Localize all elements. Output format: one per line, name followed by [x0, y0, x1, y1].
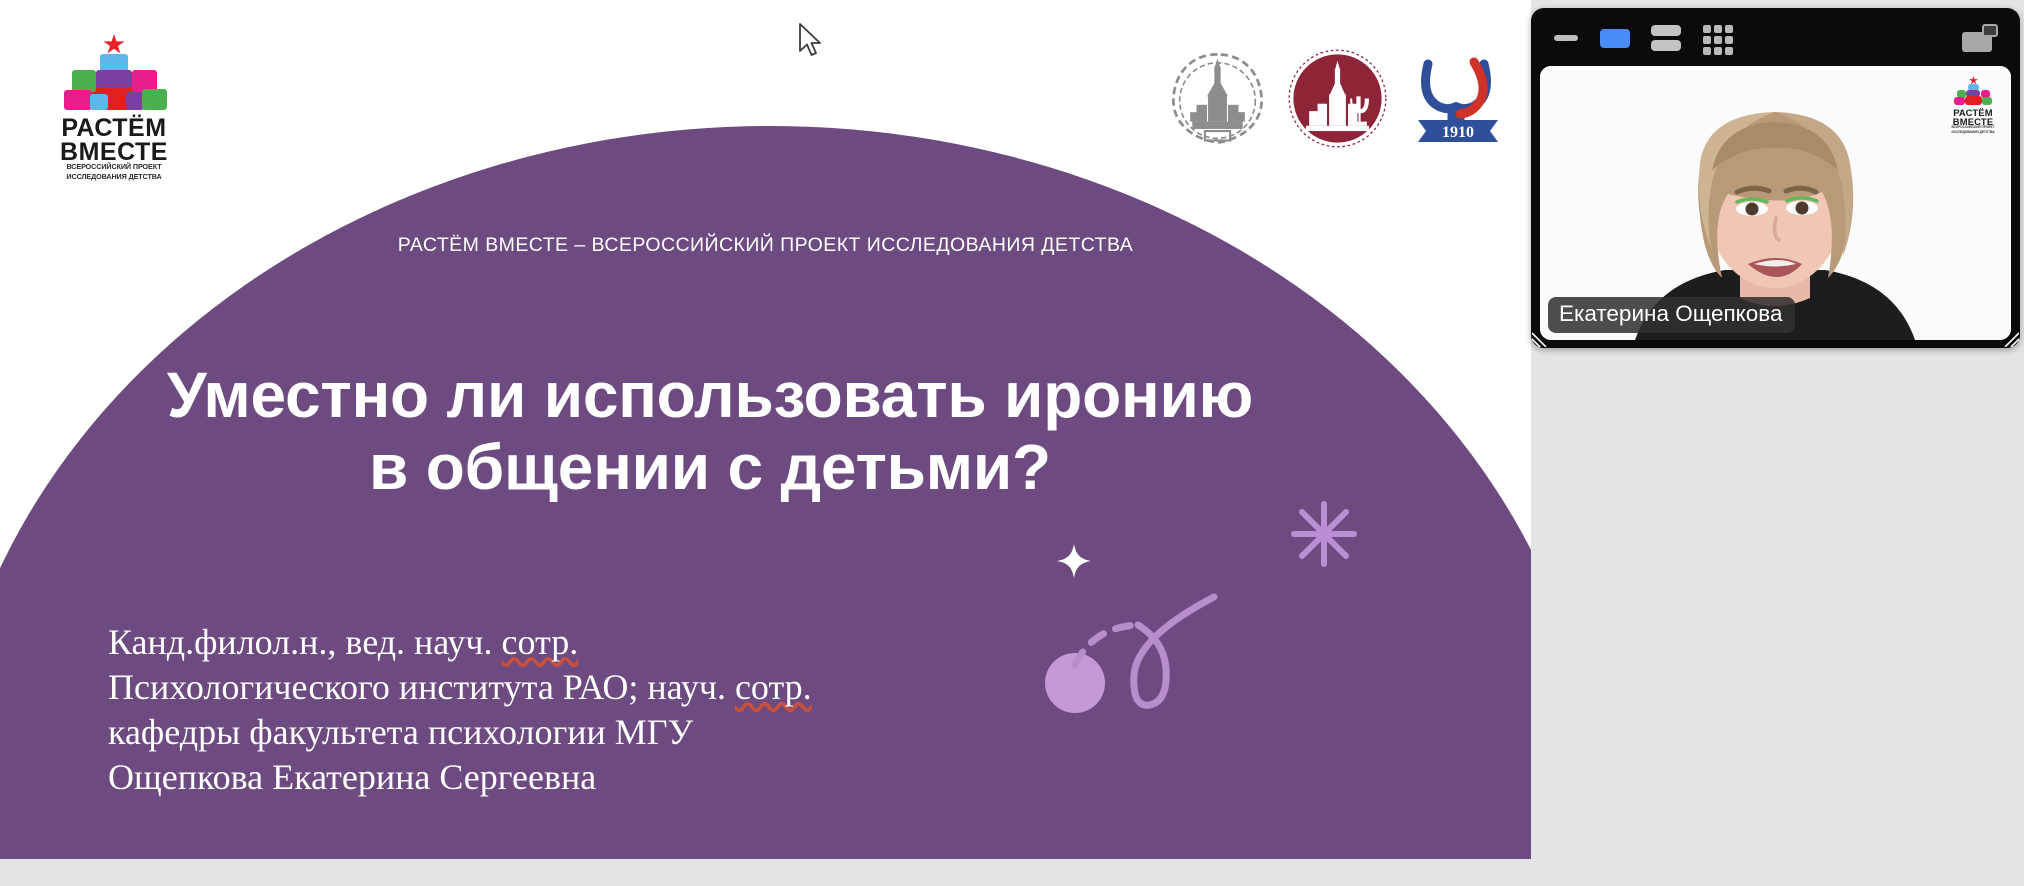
- minimize-button[interactable]: [1553, 25, 1579, 51]
- picture-in-picture-button[interactable]: [1962, 24, 1998, 52]
- brand-logo-subtitle-line-1: ВСЕРОССИЙСКИЙ ПРОЕКТ: [66, 162, 161, 171]
- decoration-sparkle-icon: [1056, 543, 1092, 579]
- author-line-2: Психологического института РАО; науч. со…: [108, 665, 812, 710]
- brand-logo-subtitle: ВСЕРОССИЙСКИЙ ПРОЕКТ ИССЛЕДОВАНИЯ ДЕТСТВ…: [50, 162, 178, 183]
- logo-block-left-green: [72, 70, 96, 92]
- brand-logo: РАСТЁМ ВМЕСТЕ ВСЕРОССИЙСКИЙ ПРОЕКТ ИССЛЕ…: [50, 34, 178, 172]
- logo-block-left-blue: [90, 94, 108, 110]
- partner-logos-group: 1910: [1165, 46, 1495, 156]
- video-panel-toolbar: [1531, 8, 2020, 68]
- slide-title-line-1: Уместно ли использовать иронию: [0, 360, 1420, 432]
- video-watermark-block-e: [1954, 97, 1965, 105]
- slide-decoration-group: [1020, 490, 1400, 750]
- brand-logo-subtitle-line-2: ИССЛЕДОВАНИЯ ДЕТСТВА: [66, 172, 161, 181]
- video-watermark-subtitle-line-1: ВСЕРОССИЙСКИЙ ПРОЕКТ: [1951, 125, 1994, 129]
- psychology-institute-emblem-icon: [1285, 46, 1390, 151]
- video-watermark-block-g: [1982, 97, 1992, 105]
- video-conference-panel[interactable]: РАСТЁМ ВМЕСТЕ ВСЕРОССИЙСКИЙ ПРОЕКТ ИССЛЕ…: [1531, 8, 2020, 348]
- resize-handle-bottom-right[interactable]: [1999, 327, 2019, 347]
- speaker-view-button[interactable]: [1600, 25, 1630, 51]
- author-line-4: Ощепкова Екатерина Сергеевна: [108, 755, 812, 800]
- logo-block-left-pink: [64, 90, 92, 110]
- split-view-button[interactable]: [1651, 25, 1681, 51]
- slide-title: Уместно ли использовать иронию в общении…: [0, 360, 1420, 503]
- psi-1910-emblem-icon: 1910: [1408, 46, 1508, 154]
- video-watermark-subtitle: ВСЕРОССИЙСКИЙ ПРОЕКТ ИССЛЕДОВАНИЯ ДЕТСТВ…: [1949, 125, 1997, 135]
- author-line-2-text: Психологического института РАО; науч.: [108, 667, 735, 707]
- logo-star-icon: [103, 34, 125, 55]
- slide-author-block: Канд.филол.н., вед. науч. сотр. Психолог…: [108, 620, 812, 800]
- video-watermark-block-c: [1965, 96, 1982, 105]
- author-line-1-misspelled: сотр.: [502, 622, 579, 662]
- decoration-starburst-icon: [1288, 498, 1360, 570]
- mouse-cursor-icon: [797, 22, 825, 60]
- video-watermark-subtitle-line-2: ИССЛЕДОВАНИЯ ДЕТСТВА: [1951, 130, 1994, 134]
- author-line-3: кафедры факультета психологии МГУ: [108, 710, 812, 755]
- slide-kicker-text: РАСТЁМ ВМЕСТЕ – ВСЕРОССИЙСКИЙ ПРОЕКТ ИСС…: [0, 234, 1531, 257]
- grid-view-button[interactable]: [1702, 25, 1734, 51]
- author-line-2-misspelled: сотр.: [735, 667, 812, 707]
- msu-emblem-icon: [1165, 46, 1270, 151]
- author-line-1: Канд.филол.н., вед. науч. сотр.: [108, 620, 812, 665]
- participant-name-badge: Екатерина Ощепкова: [1548, 297, 1795, 333]
- participant-video-tile[interactable]: РАСТЁМ ВМЕСТЕ ВСЕРОССИЙСКИЙ ПРОЕКТ ИССЛЕ…: [1540, 66, 2011, 340]
- screen-root: РАСТЁМ ВМЕСТЕ ВСЕРОССИЙСКИЙ ПРОЕКТ ИССЛЕ…: [0, 0, 2024, 886]
- resize-handle-bottom-left[interactable]: [1532, 327, 1552, 347]
- video-watermark-logo: РАСТЁМ ВМЕСТЕ ВСЕРОССИЙСКИЙ ПРОЕКТ ИССЛЕ…: [1949, 76, 1997, 134]
- psi-emblem-year: 1910: [1442, 124, 1474, 141]
- author-line-1-text: Канд.филол.н., вед. науч.: [108, 622, 502, 662]
- logo-block-right-green: [142, 89, 167, 110]
- presentation-slide[interactable]: РАСТЁМ ВМЕСТЕ ВСЕРОССИЙСКИЙ ПРОЕКТ ИССЛЕ…: [0, 0, 1531, 859]
